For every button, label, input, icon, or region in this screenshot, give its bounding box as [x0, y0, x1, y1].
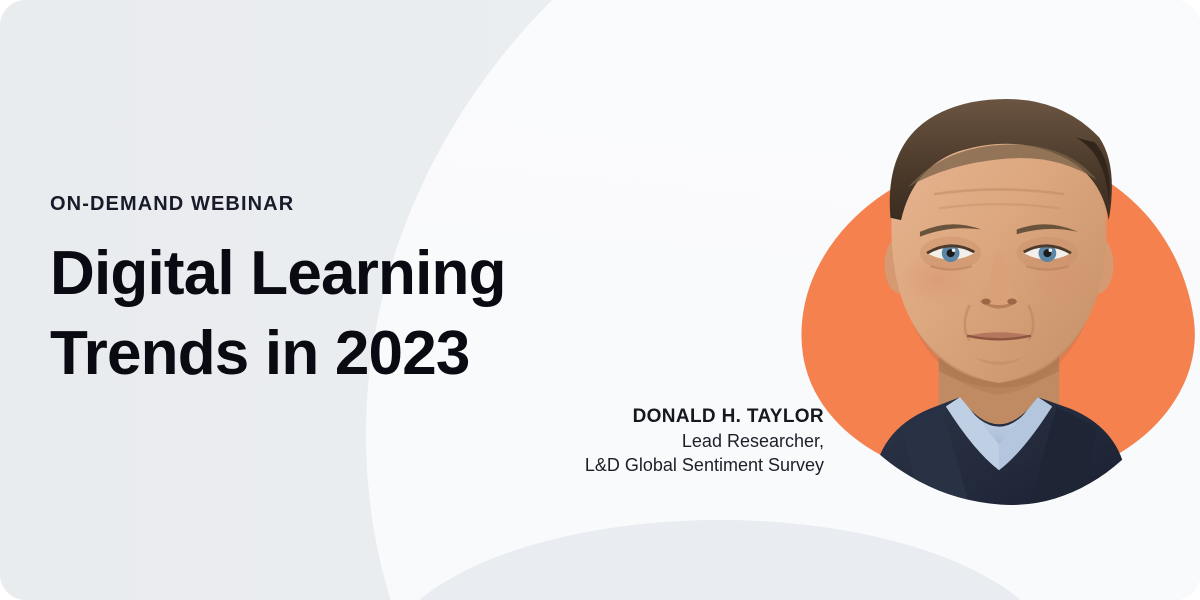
page-title: Digital Learning Trends in 2023: [50, 234, 506, 394]
speaker-role-line-1: Lead Researcher,: [585, 429, 824, 453]
speaker-role-line-2: L&D Global Sentiment Survey: [585, 453, 824, 477]
portrait-illustration: [784, 78, 1200, 517]
speaker-info: DONALD H. TAYLOR Lead Researcher, L&D Gl…: [585, 405, 824, 477]
speaker-name: DONALD H. TAYLOR: [585, 405, 824, 429]
speaker-portrait: [784, 78, 1200, 517]
webinar-promo-banner: ON-DEMAND WEBINAR Digital Learning Trend…: [0, 0, 1200, 600]
headline-line-1: Digital Learning: [50, 234, 506, 314]
headline-line-2: Trends in 2023: [50, 314, 506, 394]
eyebrow-label: ON-DEMAND WEBINAR: [50, 193, 294, 216]
